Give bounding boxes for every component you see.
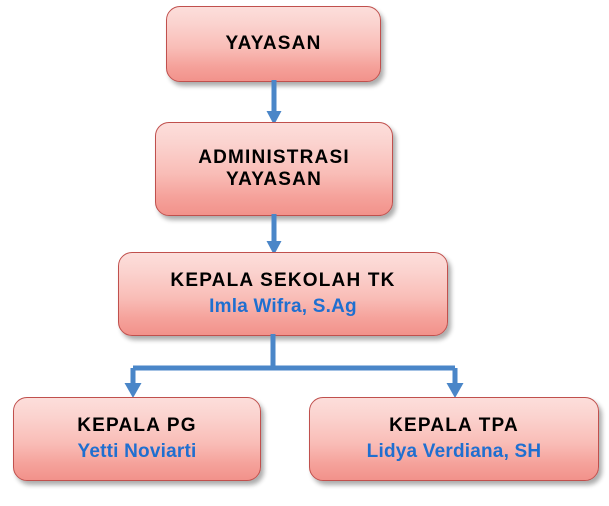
org-node-kepala-pg[interactable]: KEPALA PG Yetti Noviarti <box>13 397 261 481</box>
connector-yayasan-to-administrasi <box>259 80 289 126</box>
org-node-subtitle: Lidya Verdiana, SH <box>367 441 542 463</box>
org-node-kepala-sekolah-tk[interactable]: KEPALA SEKOLAH TK Imla Wifra, S.Ag <box>118 252 448 336</box>
connector-kepala-sekolah-to-branches <box>118 334 478 404</box>
org-node-administrasi-yayasan[interactable]: ADMINISTRASI YAYASAN <box>155 122 393 216</box>
org-node-yayasan[interactable]: YAYASAN <box>166 6 381 82</box>
org-node-subtitle: Yetti Noviarti <box>78 441 197 463</box>
org-node-title: KEPALA SEKOLAH TK <box>170 270 395 292</box>
org-node-subtitle: Imla Wifra, S.Ag <box>209 296 357 318</box>
org-node-title: KEPALA PG <box>77 415 197 437</box>
org-chart: YAYASAN ADMINISTRASI YAYASAN KEPALA SEKO… <box>0 0 609 506</box>
org-node-kepala-tpa[interactable]: KEPALA TPA Lidya Verdiana, SH <box>309 397 599 481</box>
connector-administrasi-to-kepala-sekolah <box>259 214 289 256</box>
org-node-title: YAYASAN <box>225 33 321 55</box>
org-node-title-line2: YAYASAN <box>226 169 322 191</box>
org-node-title: KEPALA TPA <box>389 415 519 437</box>
org-node-title-line1: ADMINISTRASI <box>198 147 350 169</box>
